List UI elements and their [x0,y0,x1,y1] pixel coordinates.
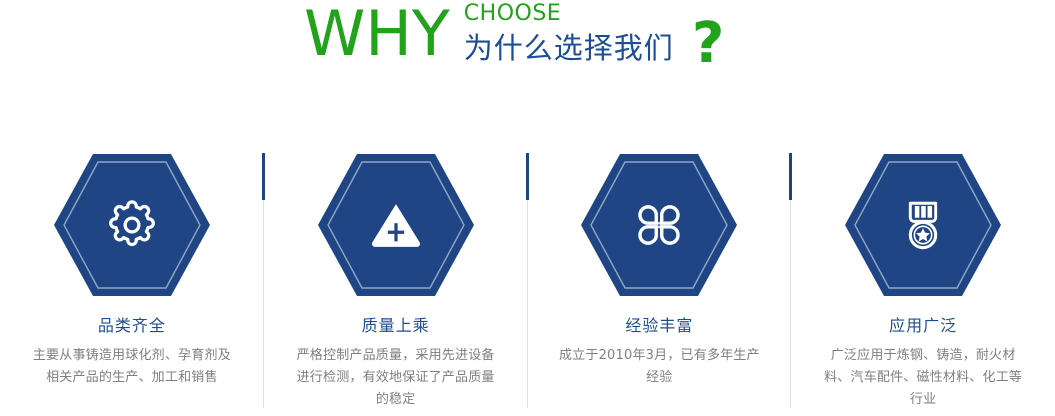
feature-title-4: 应用广泛 [889,316,957,336]
feature-column-3: 经验丰富 成立于2010年3月，已有多年生产经验 [528,140,792,416]
question-mark-icon: ? [692,0,724,74]
feature-description-3: 成立于2010年3月，已有多年生产经验 [556,345,762,389]
hexagon-badge-2 [318,150,474,300]
hexagon-badge-4 [845,150,1001,300]
feature-description-4: 广泛应用于炼钢、铸造，耐火材料、汽车配件、磁性材料、化工等行业 [820,345,1026,411]
page-subtitle-choose: CHOOSE [464,2,674,26]
feature-column-4: 应用广泛 广泛应用于炼钢、铸造，耐火材料、汽车配件、磁性材料、化工等行业 [791,140,1055,416]
why-choose-us-section: WHY CHOOSE 为什么选择我们 ? 品类齐全 主要从事铸造 [0,0,1055,416]
section-header: WHY CHOOSE 为什么选择我们 ? [0,0,1055,100]
feature-description-1: 主要从事铸造用球化剂、孕育剂及相关产品的生产、加工和销售 [29,345,235,389]
feature-title-1: 品类齐全 [98,316,166,336]
triangle-plus-icon [367,196,425,254]
header-inner: WHY CHOOSE 为什么选择我们 ? [304,0,724,74]
feature-column-2: 质量上乘 严格控制产品质量，采用先进设备进行检测，有效地保证了产品质量的稳定 [264,140,528,416]
hexagon-badge-3 [581,150,737,300]
medal-icon [894,196,952,254]
feature-title-2: 质量上乘 [362,316,430,336]
hexagon-badge-1 [54,150,210,300]
feature-description-2: 严格控制产品质量，采用先进设备进行检测，有效地保证了产品质量的稳定 [293,345,499,411]
page-title-why: WHY [304,0,450,68]
feature-title-3: 经验丰富 [625,316,693,336]
header-text-stack: CHOOSE 为什么选择我们 [464,0,674,65]
feature-columns: 品类齐全 主要从事铸造用球化剂、孕育剂及相关产品的生产、加工和销售 质 [0,140,1055,416]
feature-column-1: 品类齐全 主要从事铸造用球化剂、孕育剂及相关产品的生产、加工和销售 [0,140,264,416]
gear-icon [103,196,161,254]
four-petal-clover-icon [630,196,688,254]
page-title-chinese: 为什么选择我们 [464,31,674,65]
